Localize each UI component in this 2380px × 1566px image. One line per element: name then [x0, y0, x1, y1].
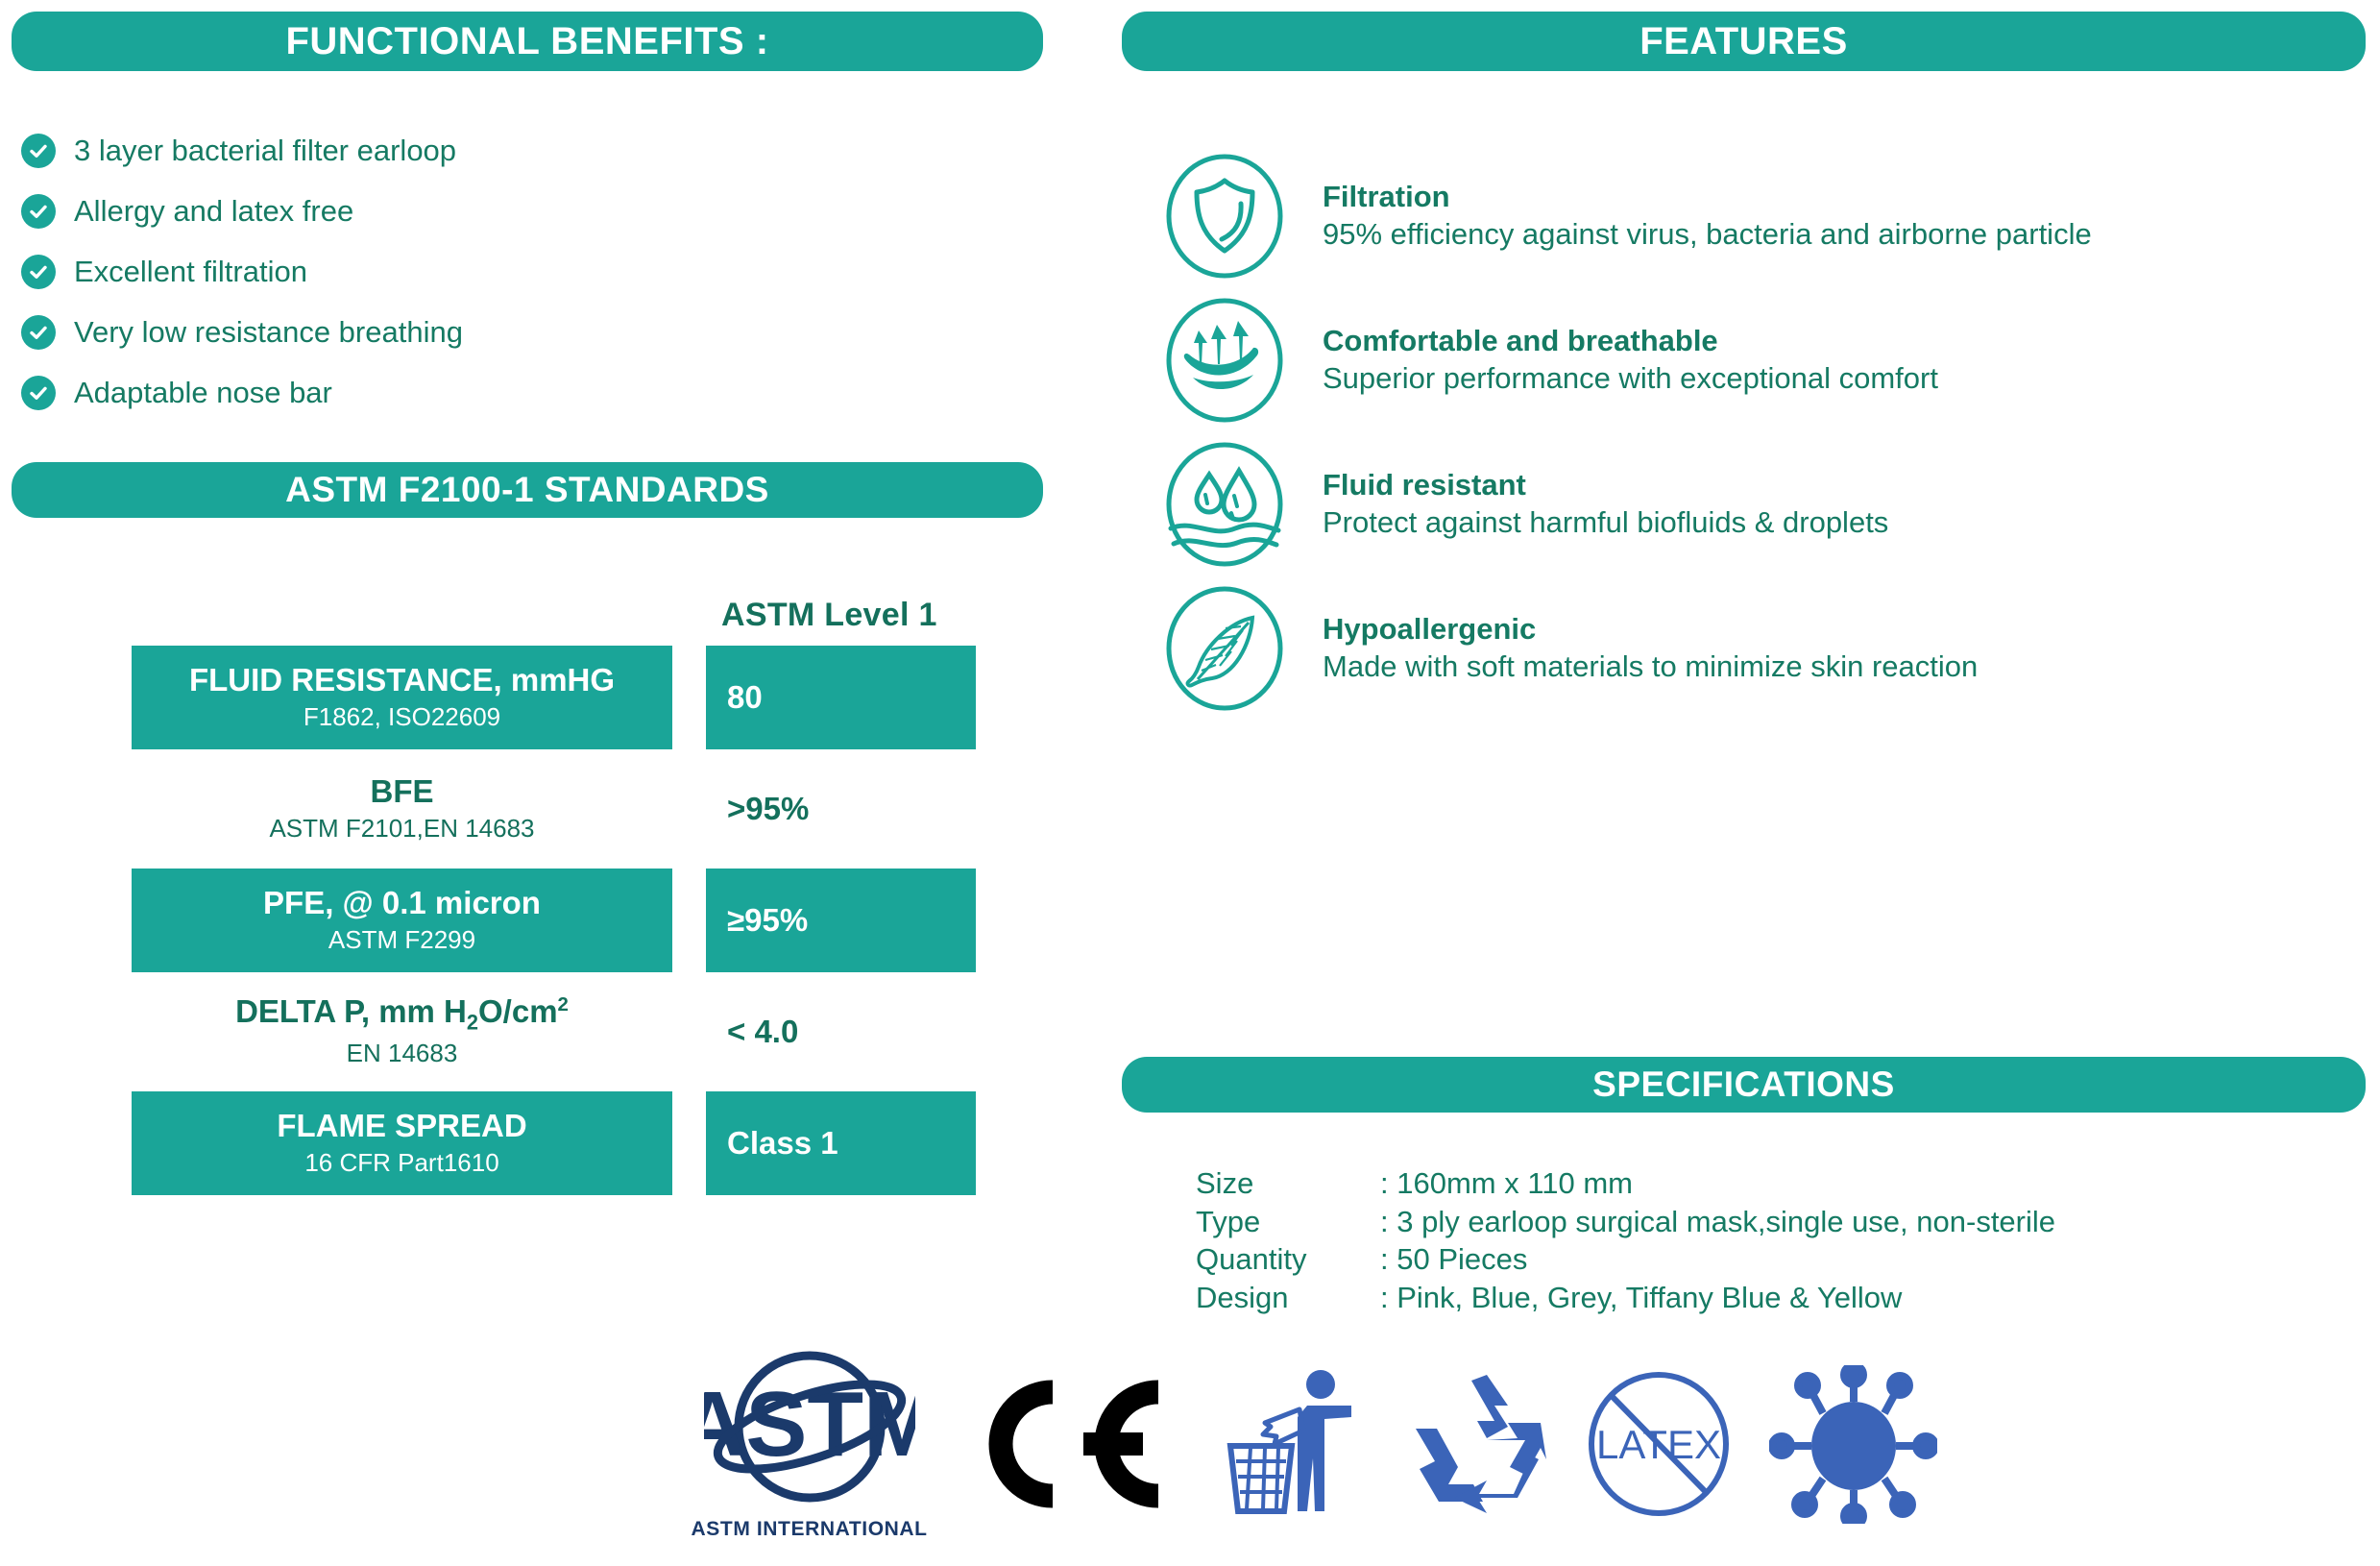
- certification-logos: ASTM ASTM INTERNATIONAL: [672, 1329, 1940, 1559]
- standard-name-cell: DELTA P, mm H2O/cm2 EN 14683: [132, 980, 672, 1084]
- feature-description: 95% efficiency against virus, bacteria a…: [1323, 216, 2092, 254]
- standard-reference: EN 14683: [347, 1039, 458, 1068]
- virus-icon: [1766, 1365, 1940, 1524]
- standard-value-cell: ≥95%: [706, 869, 976, 972]
- benefit-label: Adaptable nose bar: [74, 376, 332, 410]
- spec-value: : Pink, Blue, Grey, Tiffany Blue & Yello…: [1380, 1279, 1902, 1317]
- spec-value: : 160mm x 110 mm: [1380, 1164, 1633, 1203]
- check-circle-icon: [21, 255, 56, 289]
- benefit-item: Excellent filtration: [21, 241, 1030, 302]
- dispose-in-bin-icon: [1204, 1367, 1364, 1521]
- feature-description: Protect against harmful biofluids & drop…: [1323, 504, 1888, 542]
- spec-row: Quantity : 50 Pieces: [1196, 1240, 2055, 1279]
- standard-value: < 4.0: [727, 1014, 798, 1050]
- spec-row: Design : Pink, Blue, Grey, Tiffany Blue …: [1196, 1279, 2055, 1317]
- table-row: FLAME SPREAD 16 CFR Part1610 Class 1: [132, 1091, 977, 1195]
- specifications-table: Size : 160mm x 110 mm Type : 3 ply earlo…: [1196, 1164, 2055, 1317]
- standard-reference: F1862, ISO22609: [304, 702, 500, 732]
- standard-name-cell: FLAME SPREAD 16 CFR Part1610: [132, 1091, 672, 1195]
- feature-text-block: Fluid resistant Protect against harmful …: [1323, 467, 1888, 542]
- feature-item: Filtration 95% efficiency against virus,…: [1148, 144, 2368, 288]
- feature-title: Fluid resistant: [1323, 467, 1888, 504]
- benefit-label: Allergy and latex free: [74, 194, 353, 229]
- check-circle-icon: [21, 376, 56, 410]
- standard-reference: 16 CFR Part1610: [304, 1148, 498, 1178]
- feature-text-block: Comfortable and breathable Superior perf…: [1323, 323, 1938, 398]
- feature-description: Made with soft materials to minimize ski…: [1323, 648, 1978, 686]
- table-row: PFE, @ 0.1 micron ASTM F2299 ≥95%: [132, 869, 977, 972]
- feature-text-block: Hypoallergenic Made with soft materials …: [1323, 611, 1978, 686]
- feature-description: Superior performance with exceptional co…: [1323, 360, 1938, 398]
- table-row: BFE ASTM F2101,EN 14683 >95%: [132, 757, 977, 861]
- spec-row: Type : 3 ply earloop surgical mask,singl…: [1196, 1203, 2055, 1241]
- feature-item: Fluid resistant Protect against harmful …: [1148, 432, 2368, 576]
- shield-icon: [1148, 144, 1301, 288]
- recycle-icon: [1392, 1367, 1551, 1521]
- features-header: FEATURES: [1122, 12, 2366, 71]
- feature-title: Hypoallergenic: [1323, 611, 1978, 648]
- check-circle-icon: [21, 194, 56, 229]
- feature-text-block: Filtration 95% efficiency against virus,…: [1323, 179, 2092, 254]
- standard-title: FLUID RESISTANCE, mmHG: [189, 663, 615, 698]
- feature-title: Filtration: [1323, 179, 2092, 216]
- spec-key: Size: [1196, 1164, 1380, 1203]
- ce-mark-icon: [965, 1377, 1166, 1511]
- standard-name-cell: PFE, @ 0.1 micron ASTM F2299: [132, 869, 672, 972]
- check-circle-icon: [21, 134, 56, 168]
- benefit-label: 3 layer bacterial filter earloop: [74, 134, 456, 168]
- standard-reference: ASTM F2101,EN 14683: [269, 814, 534, 844]
- feature-item: Comfortable and breathable Superior perf…: [1148, 288, 2368, 432]
- standard-value-cell: < 4.0: [706, 980, 976, 1084]
- astm-level-column-header: ASTM Level 1: [721, 597, 937, 634]
- astm-standards-header: ASTM F2100-1 STANDARDS: [12, 462, 1043, 518]
- functional-benefits-header: FUNCTIONAL BENEFITS :: [12, 12, 1043, 71]
- standard-value: Class 1: [727, 1125, 838, 1162]
- standard-title: PFE, @ 0.1 micron: [263, 886, 541, 921]
- feature-item: Hypoallergenic Made with soft materials …: [1148, 576, 2368, 721]
- standard-reference: ASTM F2299: [328, 925, 475, 955]
- standard-title: FLAME SPREAD: [277, 1109, 526, 1144]
- standard-value-cell: 80: [706, 646, 976, 749]
- spec-value: : 50 Pieces: [1380, 1240, 1527, 1279]
- benefit-label: Excellent filtration: [74, 255, 307, 289]
- features-list: Filtration 95% efficiency against virus,…: [1148, 144, 2368, 721]
- standard-value-cell: >95%: [706, 757, 976, 861]
- specifications-header: SPECIFICATIONS: [1122, 1057, 2366, 1113]
- benefit-item: 3 layer bacterial filter earloop: [21, 120, 1030, 181]
- table-row: DELTA P, mm H2O/cm2 EN 14683 < 4.0: [132, 980, 977, 1084]
- standard-name-cell: BFE ASTM F2101,EN 14683: [132, 757, 672, 861]
- water-droplet-icon: [1148, 432, 1301, 576]
- astm-logo-icon: ASTM ASTM INTERNATIONAL: [672, 1348, 946, 1541]
- standard-value: ≥95%: [727, 902, 808, 939]
- spec-row: Size : 160mm x 110 mm: [1196, 1164, 2055, 1203]
- breathable-icon: [1148, 288, 1301, 432]
- benefit-label: Very low resistance breathing: [74, 315, 463, 350]
- astm-caption: ASTM INTERNATIONAL: [692, 1518, 928, 1541]
- spec-value: : 3 ply earloop surgical mask,single use…: [1380, 1203, 2055, 1241]
- latex-free-icon: LATEX: [1572, 1367, 1746, 1521]
- benefit-item: Allergy and latex free: [21, 181, 1030, 241]
- standard-title: BFE: [371, 774, 434, 810]
- standard-name-cell: FLUID RESISTANCE, mmHG F1862, ISO22609: [132, 646, 672, 749]
- benefit-item: Adaptable nose bar: [21, 362, 1030, 423]
- standards-table: FLUID RESISTANCE, mmHG F1862, ISO22609 8…: [132, 646, 977, 1203]
- standard-title: DELTA P, mm H2O/cm2: [235, 994, 569, 1035]
- standard-value: >95%: [727, 791, 809, 827]
- spec-key: Type: [1196, 1203, 1380, 1241]
- functional-benefits-list: 3 layer bacterial filter earloop Allergy…: [21, 120, 1030, 423]
- spec-key: Quantity: [1196, 1240, 1380, 1279]
- spec-key: Design: [1196, 1279, 1380, 1317]
- benefit-item: Very low resistance breathing: [21, 302, 1030, 362]
- table-row: FLUID RESISTANCE, mmHG F1862, ISO22609 8…: [132, 646, 977, 749]
- standard-value: 80: [727, 679, 763, 716]
- feature-title: Comfortable and breathable: [1323, 323, 1938, 360]
- feather-icon: [1148, 576, 1301, 721]
- standard-value-cell: Class 1: [706, 1091, 976, 1195]
- check-circle-icon: [21, 315, 56, 350]
